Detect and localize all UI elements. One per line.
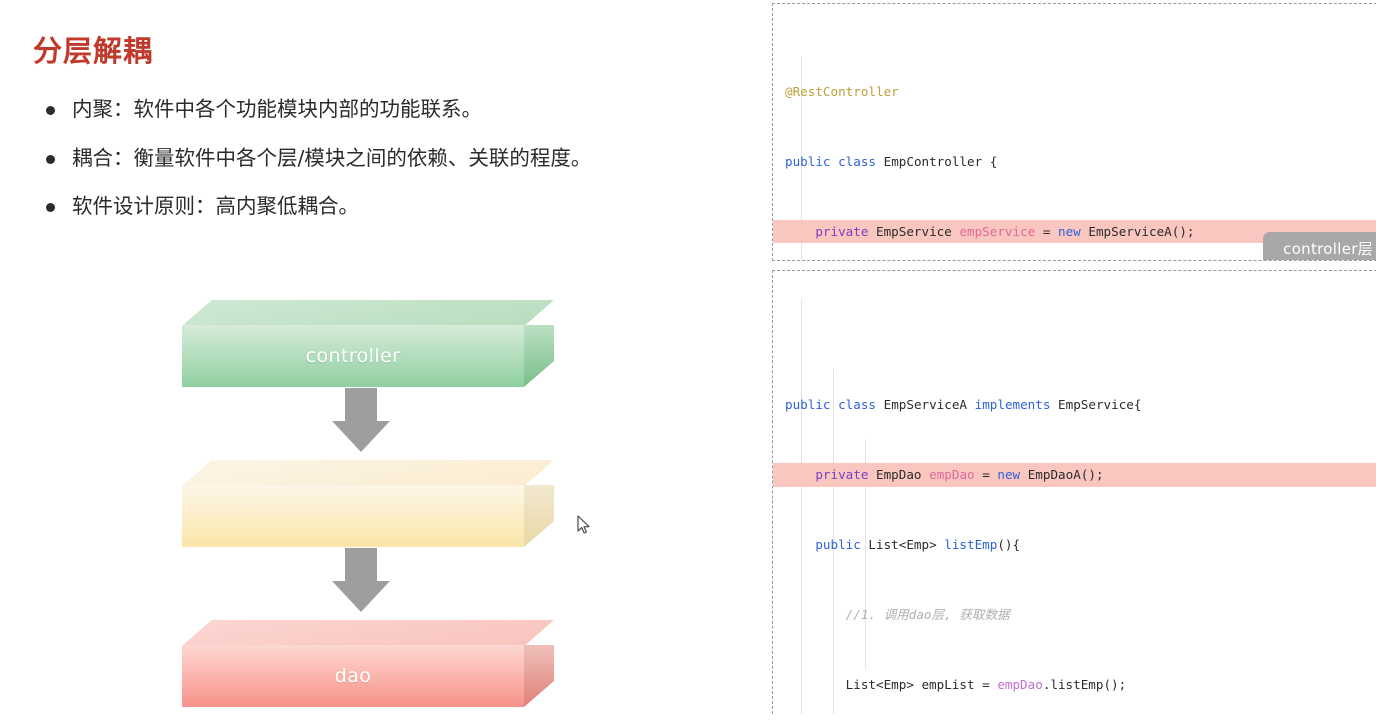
code-line: public class EmpServiceA implements EmpS… bbox=[773, 393, 1376, 416]
list-item: 软件设计原则：高内聚低耦合。 bbox=[46, 193, 736, 221]
box-side-face bbox=[524, 325, 554, 387]
slide-root: 分层解耦 内聚：软件中各个功能模块内部的功能联系。 耦合：衡量软件中各个层/模块… bbox=[0, 0, 1376, 714]
page-title: 分层解耦 bbox=[33, 28, 153, 70]
box-side-face bbox=[524, 645, 554, 707]
bullet-list: 内聚：软件中各个功能模块内部的功能联系。 耦合：衡量软件中各个层/模块之间的依赖… bbox=[46, 96, 736, 242]
bullet-text: 耦合：衡量软件中各个层/模块之间的依赖、关联的程度。 bbox=[72, 145, 591, 173]
code-column: @RestController public class EmpControll… bbox=[766, 0, 1376, 714]
arrow-down-icon bbox=[332, 548, 390, 612]
box-front-face bbox=[182, 485, 524, 547]
box-top-face bbox=[182, 620, 554, 646]
bullet-dot-icon bbox=[46, 155, 55, 164]
code-line: @RestController bbox=[773, 80, 1376, 103]
code-line: //1. 调用dao层, 获取数据 bbox=[773, 603, 1376, 626]
code-panel-service[interactable]: public class EmpServiceA implements EmpS… bbox=[772, 270, 1376, 714]
bullet-dot-icon bbox=[46, 203, 55, 212]
box-side-face bbox=[524, 485, 554, 547]
mouse-pointer-icon bbox=[577, 515, 591, 535]
code-body-service: public class EmpServiceA implements EmpS… bbox=[773, 271, 1376, 714]
bullet-dot-icon bbox=[46, 106, 55, 115]
bullet-text: 内聚：软件中各个功能模块内部的功能联系。 bbox=[72, 96, 482, 124]
list-item: 内聚：软件中各个功能模块内部的功能联系。 bbox=[46, 96, 736, 124]
layer-stack-diagram: controller dao bbox=[182, 300, 582, 720]
box-top-face bbox=[182, 460, 554, 486]
box-top-face bbox=[182, 300, 554, 326]
list-item: 耦合：衡量软件中各个层/模块之间的依赖、关联的程度。 bbox=[46, 145, 736, 173]
bullet-text: 软件设计原则：高内聚低耦合。 bbox=[72, 193, 359, 221]
code-panel-controller[interactable]: @RestController public class EmpControll… bbox=[772, 3, 1376, 261]
layer-badge-controller: controller层 bbox=[1263, 232, 1376, 261]
arrow-down-icon bbox=[332, 388, 390, 452]
code-body-controller: @RestController public class EmpControll… bbox=[773, 4, 1376, 261]
left-content-pane: 分层解耦 内聚：软件中各个功能模块内部的功能联系。 耦合：衡量软件中各个层/模块… bbox=[0, 0, 750, 714]
code-line: public class EmpController { bbox=[773, 150, 1376, 173]
code-line-highlighted: private EmpDao empDao = new EmpDaoA(); bbox=[773, 463, 1376, 486]
box-front-face bbox=[182, 325, 524, 387]
code-line: List<Emp> empList = empDao.listEmp(); bbox=[773, 673, 1376, 696]
code-line: public List<Emp> listEmp(){ bbox=[773, 533, 1376, 556]
box-front-face bbox=[182, 645, 524, 707]
